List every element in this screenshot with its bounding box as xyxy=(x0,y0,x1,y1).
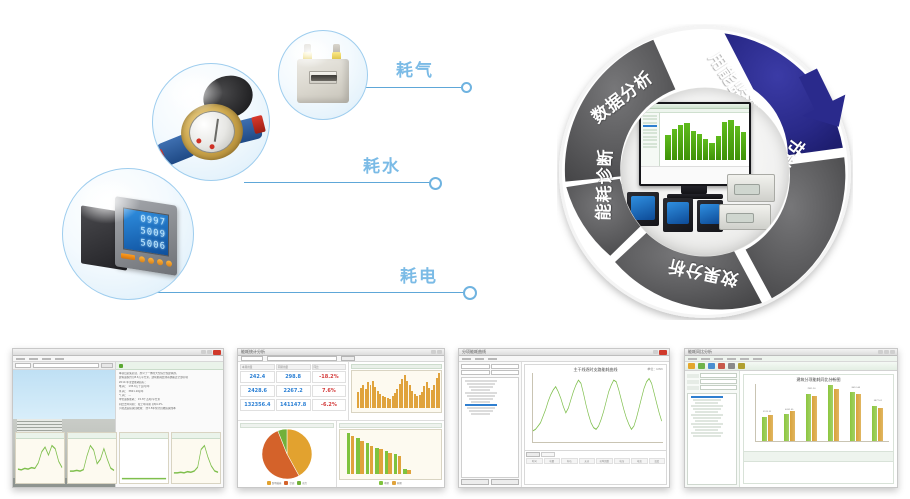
bar-data-label: 4201.55 xyxy=(785,409,793,411)
connector-line-power xyxy=(116,292,472,293)
menu-item[interactable] xyxy=(475,358,484,360)
pie-legend-item[interactable]: 动力 xyxy=(297,481,307,485)
close-icon[interactable] xyxy=(659,350,667,355)
tab-data[interactable] xyxy=(526,452,540,457)
info-line: 2014 年主要能耗指标： xyxy=(119,381,220,384)
compare-bar xyxy=(834,389,839,441)
tree-node[interactable] xyxy=(471,413,490,415)
close-icon[interactable] xyxy=(213,350,221,355)
compare-bar xyxy=(812,396,817,441)
minimize-icon[interactable] xyxy=(201,350,206,354)
kpi-cell: 141147.8 xyxy=(276,399,311,411)
bar-data-label: 3912.32 xyxy=(763,411,771,413)
compare-group: 4201.55 xyxy=(784,385,795,441)
compare-bar xyxy=(784,414,789,441)
shot2-column-panel[interactable]: 本期同期 xyxy=(337,420,444,487)
compare-bar xyxy=(872,406,877,441)
menu-item[interactable] xyxy=(42,358,51,360)
line-chart-svg xyxy=(68,439,116,483)
shot1-titlebar[interactable] xyxy=(13,349,223,356)
water-meter-needle xyxy=(214,119,219,142)
table-column-header[interactable]: 电流 xyxy=(631,458,648,464)
compare-group: 7821.90 xyxy=(806,385,817,441)
connector-line-water xyxy=(244,182,440,183)
din-rail-meter-2 xyxy=(719,204,771,230)
table-header-row: 时间电量有功无功功率因数电压电流温度 xyxy=(525,458,666,464)
shot4-titlebar[interactable]: 能耗同比分析 xyxy=(685,349,897,356)
compare-group: 9240.17 xyxy=(828,385,839,441)
kpi-row: 132356.4141147.8-6.2% xyxy=(240,399,346,411)
mini-sidebar-row xyxy=(643,118,657,120)
trend-axis-x xyxy=(532,442,663,443)
field-device-1 xyxy=(627,192,659,226)
mini-chart-bar xyxy=(735,126,740,160)
compare-group: 5877.61 xyxy=(872,385,883,441)
menu-item[interactable] xyxy=(462,358,471,360)
kpi-column-header: 同期用量 xyxy=(276,364,311,370)
mini-chart-bar xyxy=(709,143,714,161)
column-group xyxy=(403,433,410,474)
compare-bar xyxy=(790,411,795,441)
tree-node[interactable] xyxy=(471,401,490,403)
screenshot-statistics[interactable]: 能耗统计分析 本期用量同期用量同比242.4298.8-18.2%2428.62… xyxy=(237,348,445,488)
power-meter-button-1[interactable] xyxy=(139,256,145,263)
pie-legend-label: 空调 xyxy=(289,481,294,485)
din-rail-meter-1 xyxy=(727,174,775,202)
compare-bar xyxy=(850,392,855,441)
shot2-window-title: 能耗统计分析 xyxy=(241,349,265,355)
bubble-power-meter: 0997 5009 5006 xyxy=(62,168,194,300)
field-device-1-lcd xyxy=(631,196,655,220)
toolbar-icon-refresh[interactable] xyxy=(698,363,705,369)
shot2-pie-panel[interactable]: 照明插座空调动力 xyxy=(238,420,337,487)
menu-item[interactable] xyxy=(753,358,762,360)
gas-meter-digits xyxy=(311,75,337,81)
table-column-header[interactable]: 无功 xyxy=(579,458,596,464)
compare-bar xyxy=(768,415,773,441)
din-rail-meter-1-display xyxy=(734,184,760,195)
mini-chart-bar xyxy=(678,125,683,160)
shot1-chart-row xyxy=(15,432,221,484)
kpi-cell: -18.2% xyxy=(312,371,347,383)
line-chart-svg xyxy=(16,439,64,483)
power-meter-button-4[interactable] xyxy=(166,260,172,267)
connector-dot-water xyxy=(429,177,442,190)
shot2-top: 本期用量同期用量同比242.4298.8-18.2%2428.62267.27.… xyxy=(238,362,444,420)
filter-input[interactable] xyxy=(700,385,737,390)
tree-node[interactable] xyxy=(693,417,721,419)
cycle-center-photo xyxy=(621,88,789,256)
column-bar xyxy=(394,454,397,474)
date-input[interactable] xyxy=(15,363,31,368)
shot2-daily-bars[interactable] xyxy=(349,362,444,420)
tree-node[interactable] xyxy=(471,389,490,391)
column-group xyxy=(347,433,354,474)
kpi-cell: 2267.2 xyxy=(276,385,311,397)
column-group xyxy=(366,433,373,474)
column-bar xyxy=(398,456,401,474)
kpi-column-header: 本期用量 xyxy=(240,364,275,370)
mini-sidebar-row xyxy=(643,115,657,117)
kpi-cell: 2428.6 xyxy=(240,385,275,397)
trend-data-table[interactable]: 时间电量有功无功功率因数电压电流温度 xyxy=(524,451,667,485)
filter-label xyxy=(687,386,699,390)
mini-sidebar-row xyxy=(643,129,657,131)
pie-legend: 照明插座空调动力 xyxy=(240,480,334,485)
mini-sidebar-row xyxy=(643,132,657,134)
bar-data-label: 8012.44 xyxy=(852,387,860,389)
tree-buttons[interactable] xyxy=(461,479,519,485)
tree-node[interactable] xyxy=(469,386,493,388)
mini-chart-bar xyxy=(672,129,677,161)
compare-group: 3912.32 xyxy=(762,385,773,441)
compare-chart-title: 建筑分项能耗同比分析图 xyxy=(744,377,893,383)
filter-row-3[interactable] xyxy=(687,385,737,390)
query-button[interactable] xyxy=(461,479,489,485)
column-legend: 本期同期 xyxy=(339,480,442,485)
kpi-cell: 242.4 xyxy=(240,371,275,383)
screenshot-trend[interactable]: 分项能耗曲线 xyxy=(458,348,670,488)
tree-filter-row[interactable] xyxy=(461,364,519,369)
column-bar xyxy=(407,470,410,474)
mini-chart-bar xyxy=(697,134,702,160)
toolbar-icon-settings[interactable] xyxy=(738,363,745,369)
compare-axis-x xyxy=(755,441,889,442)
tree-node[interactable] xyxy=(693,426,721,428)
info-line: 电 耗： 135.6万千瓦时/年 xyxy=(119,385,220,388)
mini-sidebar-row xyxy=(643,136,657,138)
tree-filter-row2[interactable] xyxy=(461,370,519,375)
tree-node[interactable] xyxy=(693,435,721,437)
maximize-icon[interactable] xyxy=(884,350,889,354)
menu-item[interactable] xyxy=(488,358,497,360)
toolbar-icon-export[interactable] xyxy=(728,363,735,369)
line-chart-svg xyxy=(172,439,220,483)
tree-node[interactable] xyxy=(469,410,493,412)
mini-sidebar-row xyxy=(643,139,657,141)
connector-dot-gas xyxy=(461,82,472,93)
column-legend-item[interactable]: 本期 xyxy=(379,481,389,485)
table-column-header[interactable]: 电压 xyxy=(614,458,631,464)
filter-input[interactable] xyxy=(700,379,737,384)
daily-chart-title xyxy=(351,364,442,369)
column-group xyxy=(394,433,401,474)
header-bullet-icon xyxy=(119,364,123,368)
label-gas: 耗气 xyxy=(396,56,434,81)
kpi-cell: -6.2% xyxy=(312,399,347,411)
tab-summary[interactable] xyxy=(541,452,555,457)
column-bars xyxy=(347,433,439,474)
mini-chart-bar xyxy=(716,136,721,161)
tree-node[interactable] xyxy=(465,392,497,394)
power-meter-button-3[interactable] xyxy=(157,259,163,266)
shot3-right: 主干线逐时支路能耗曲线 单位：kWh 时间电量有功无功功率因数电压电流温度 xyxy=(522,362,669,487)
info-line: 气 耗： — xyxy=(119,394,220,397)
table-tabs[interactable] xyxy=(525,451,666,458)
info-line: 单位面积能耗： 15.8千瓦时/平方米 xyxy=(119,398,220,401)
shot1-chart-subitem[interactable] xyxy=(171,432,221,484)
bubble-gas-meter xyxy=(278,30,368,120)
menu-item[interactable] xyxy=(55,358,64,360)
export-button[interactable] xyxy=(491,479,519,485)
column-group xyxy=(432,433,439,474)
line-chart-svg xyxy=(120,439,168,483)
screenshot-overview[interactable]: 本项目是集商业、办公于一体的大型综合性建筑群，建筑面积约为8.6万平方米，建筑能… xyxy=(12,348,224,488)
minimize-icon[interactable] xyxy=(878,350,883,354)
column-bar xyxy=(385,451,388,474)
kpi-header-row: 本期用量同期用量同比 xyxy=(240,364,346,370)
shot2-bottom: 照明插座空调动力 本期同期 xyxy=(238,420,444,487)
tree-node[interactable] xyxy=(695,420,718,422)
trend-chart-title: 主干线逐时支路能耗曲线 xyxy=(525,367,666,373)
column-group xyxy=(413,433,420,474)
toolbar-icon-query[interactable] xyxy=(708,363,715,369)
compare-chart-panel[interactable]: 建筑分项能耗同比分析图 3912.324201.557821.909240.17… xyxy=(743,374,894,452)
kpi-column-header: 同比 xyxy=(312,364,347,370)
tree-node[interactable] xyxy=(691,405,723,407)
query-button[interactable] xyxy=(101,363,113,368)
column-legend-label: 同期 xyxy=(397,481,402,485)
mini-chart-bar xyxy=(703,139,708,160)
mini-app-body xyxy=(641,113,749,166)
column-group xyxy=(356,433,363,474)
column-bar xyxy=(375,448,378,474)
compare-bars: 3912.324201.557821.909240.178012.445877.… xyxy=(756,385,889,441)
shot4-chart-area: 建筑分项能耗同比分析图 3912.324201.557821.909240.17… xyxy=(740,371,897,487)
filter-row-2[interactable] xyxy=(687,379,737,384)
shot1-chart-water[interactable] xyxy=(67,432,117,484)
daily-bars xyxy=(357,373,440,408)
shot4-content: 建筑分项能耗同比分析图 3912.324201.557821.909240.17… xyxy=(685,371,897,487)
tree-node[interactable] xyxy=(693,408,721,410)
column-bar xyxy=(366,443,369,474)
table-column-header[interactable]: 有功 xyxy=(561,458,578,464)
table-column-header[interactable]: 时间 xyxy=(526,458,543,464)
tree-node[interactable] xyxy=(465,380,497,382)
menu-item[interactable] xyxy=(16,358,25,360)
menu-item[interactable] xyxy=(29,358,38,360)
trend-line-svg xyxy=(533,374,663,442)
column-bar xyxy=(356,438,359,474)
mini-chart-bar xyxy=(728,120,733,160)
start-date-input[interactable] xyxy=(461,364,490,369)
tree-node[interactable] xyxy=(695,411,718,413)
tree-node[interactable] xyxy=(467,383,495,385)
toolbar-icon-print[interactable] xyxy=(718,363,725,369)
kpi-row: 242.4298.8-18.2% xyxy=(240,371,346,383)
menu-item[interactable] xyxy=(701,358,710,360)
field-device-2-lcd xyxy=(667,202,689,224)
power-meter-front-panel: 0997 5009 5006 xyxy=(115,196,177,276)
column-legend-item[interactable]: 同期 xyxy=(392,481,402,485)
tree-node[interactable] xyxy=(691,423,723,425)
compare-bar xyxy=(878,408,883,441)
tree-node-selected[interactable] xyxy=(465,404,497,406)
end-date-input[interactable] xyxy=(491,364,520,369)
table-column-header[interactable]: 电量 xyxy=(544,458,561,464)
gas-meter-face xyxy=(309,71,337,84)
tree-node[interactable] xyxy=(695,429,718,431)
info-line: 同比去年同期： 较上年同期下降4.2% xyxy=(119,403,220,406)
shot3-titlebar[interactable]: 分项能耗曲线 xyxy=(459,349,669,356)
compare-bar xyxy=(856,394,861,441)
column-group xyxy=(375,433,382,474)
mini-chart-bar xyxy=(722,122,727,161)
shot3-window-title: 分项能耗曲线 xyxy=(462,349,486,355)
type-select[interactable] xyxy=(461,370,490,375)
toolbar-icon-open[interactable] xyxy=(688,363,695,369)
column-chart-plot xyxy=(339,429,442,480)
column-bar xyxy=(351,436,354,474)
filter-label xyxy=(687,380,699,384)
kpi-cell: 7.6% xyxy=(312,385,347,397)
pie-legend-label: 动力 xyxy=(302,481,307,485)
column-group xyxy=(422,433,429,474)
field-device-2 xyxy=(663,198,693,232)
page-root: 耗气 耗水 耗电 xyxy=(0,0,910,499)
compare-bar xyxy=(806,394,811,441)
cycle-label-diagnose[interactable]: 能耗诊断 xyxy=(589,148,616,221)
period-input[interactable] xyxy=(241,356,263,361)
info-line: 建筑面积约为8.6万平方米，建筑能耗监测系统覆盖全部区域 xyxy=(119,376,220,379)
mini-chart-bar xyxy=(691,131,696,160)
column-group xyxy=(385,433,392,474)
trend-chart-note: 单位：kWh xyxy=(647,367,663,371)
mini-app-sidebar xyxy=(641,113,660,166)
shot2-kpi-table: 本期用量同期用量同比242.4298.8-18.2%2428.62267.27.… xyxy=(238,362,349,420)
mini-app-chart xyxy=(660,113,749,166)
maximize-icon[interactable] xyxy=(207,350,212,354)
column-bar xyxy=(388,453,391,474)
energy-management-cycle-diagram: 用能监测 节能实施 效果分析 能耗诊断 数据分析 xyxy=(557,24,853,320)
close-icon[interactable] xyxy=(437,350,442,354)
tree-node[interactable] xyxy=(691,414,723,416)
bar-data-label: 7821.90 xyxy=(807,388,815,390)
trend-axis-y xyxy=(532,373,533,443)
mini-sidebar-row-selected xyxy=(643,125,657,127)
shot4-window-title: 能耗同比分析 xyxy=(688,349,712,355)
tree-node[interactable] xyxy=(695,402,718,404)
column-bar xyxy=(379,449,382,474)
power-meter-button-2[interactable] xyxy=(148,257,154,264)
label-water: 耗水 xyxy=(363,152,401,177)
info-line: 本项目是集商业、办公于一体的大型综合性建筑群， xyxy=(119,372,220,375)
building-select[interactable] xyxy=(33,363,99,368)
bubble-water-meter xyxy=(152,63,270,181)
pie-legend-item[interactable]: 照明插座 xyxy=(267,481,282,485)
column-bar xyxy=(347,433,350,474)
filter-label xyxy=(687,374,699,378)
tree-node[interactable] xyxy=(691,432,723,434)
menu-item[interactable] xyxy=(727,358,736,360)
connector-dot-power xyxy=(463,286,477,300)
column-bar xyxy=(360,441,363,474)
shot3-content: 主干线逐时支路能耗曲线 单位：kWh 时间电量有功无功功率因数电压电流温度 xyxy=(459,362,669,487)
power-meter-icon: 0997 5009 5006 xyxy=(81,197,181,277)
pie-legend-label: 照明插座 xyxy=(272,481,282,485)
bar-data-label: 5877.61 xyxy=(874,400,882,402)
compare-group: 8012.44 xyxy=(850,385,861,441)
tree-node[interactable] xyxy=(467,395,495,397)
gas-meter-icon xyxy=(291,47,357,109)
mini-chart-bar xyxy=(684,123,689,161)
info-line: 节能改造投资回收期： 约3.5年预计回收投资成本 xyxy=(119,407,220,410)
menu-item[interactable] xyxy=(688,358,697,360)
menu-item[interactable] xyxy=(740,358,749,360)
compare-status-bar xyxy=(743,452,894,462)
compare-bar xyxy=(762,417,767,441)
interval-select[interactable] xyxy=(491,370,520,375)
field-device-3-lcd xyxy=(700,204,720,224)
mini-monitor-screen xyxy=(641,104,749,184)
column-legend-label: 本期 xyxy=(384,481,389,485)
shot3-tree-panel[interactable] xyxy=(459,362,522,487)
filter-row-1[interactable] xyxy=(687,373,737,378)
mini-chart-bar xyxy=(741,132,746,160)
shot4-filter-tree[interactable] xyxy=(685,371,740,487)
pie-chart-svg xyxy=(261,428,313,480)
tree-node[interactable] xyxy=(693,399,721,401)
table-column-header[interactable]: 温度 xyxy=(649,458,666,464)
shot1-filterbar[interactable] xyxy=(13,362,115,370)
query-button[interactable] xyxy=(341,356,355,361)
tree-node[interactable] xyxy=(467,407,495,409)
shot2-titlebar[interactable]: 能耗统计分析 xyxy=(238,349,444,356)
pie-wrap xyxy=(240,428,334,480)
daily-chart-plot xyxy=(351,370,442,413)
bar-data-label: 9240.17 xyxy=(829,379,837,381)
shot1-chart-electricity[interactable] xyxy=(15,432,65,484)
shot4-toolbar[interactable] xyxy=(685,362,897,371)
tree-node-selected[interactable] xyxy=(691,396,723,398)
daily-bar xyxy=(438,373,440,408)
mini-sidebar-row xyxy=(643,143,657,145)
device-tree[interactable] xyxy=(461,377,519,478)
kpi-cell: 132356.4 xyxy=(240,399,275,411)
power-meter-buttons[interactable] xyxy=(139,256,172,267)
power-meter-brand-strip xyxy=(121,253,135,260)
compare-bar xyxy=(828,385,833,441)
mini-chart-bars xyxy=(665,120,746,160)
water-meter-icon xyxy=(161,82,265,170)
trend-chart-panel[interactable]: 主干线逐时支路能耗曲线 单位：kWh xyxy=(524,364,667,451)
filter-input[interactable] xyxy=(700,373,737,378)
menu-item[interactable] xyxy=(714,358,723,360)
table-column-header[interactable]: 功率因数 xyxy=(596,458,613,464)
meter-select[interactable] xyxy=(267,356,337,361)
shot4-tree[interactable] xyxy=(687,393,737,485)
shot1-info-header xyxy=(116,362,223,370)
close-icon[interactable] xyxy=(890,350,895,354)
column-title-bar xyxy=(339,423,442,428)
shot1-chart-gas[interactable] xyxy=(119,432,169,484)
column-bar xyxy=(403,469,406,474)
minimize-icon[interactable] xyxy=(653,350,658,354)
info-line: 水 耗： 3821.2吨/年 xyxy=(119,390,220,393)
compare-axis-y xyxy=(755,384,756,442)
column-bar xyxy=(370,446,373,474)
tree-node[interactable] xyxy=(469,398,493,400)
mini-sidebar-row xyxy=(643,122,657,124)
minimize-icon[interactable] xyxy=(431,350,436,354)
kpi-cell: 298.8 xyxy=(276,371,311,383)
mini-chart-bar xyxy=(665,135,670,160)
compare-data-grid[interactable] xyxy=(743,462,894,484)
pie-legend-item[interactable]: 空调 xyxy=(284,481,294,485)
screenshot-compare[interactable]: 能耗同比分析 xyxy=(684,348,898,488)
kpi-row: 2428.62267.27.6% xyxy=(240,385,346,397)
din-rail-meter-2-display xyxy=(726,213,754,223)
